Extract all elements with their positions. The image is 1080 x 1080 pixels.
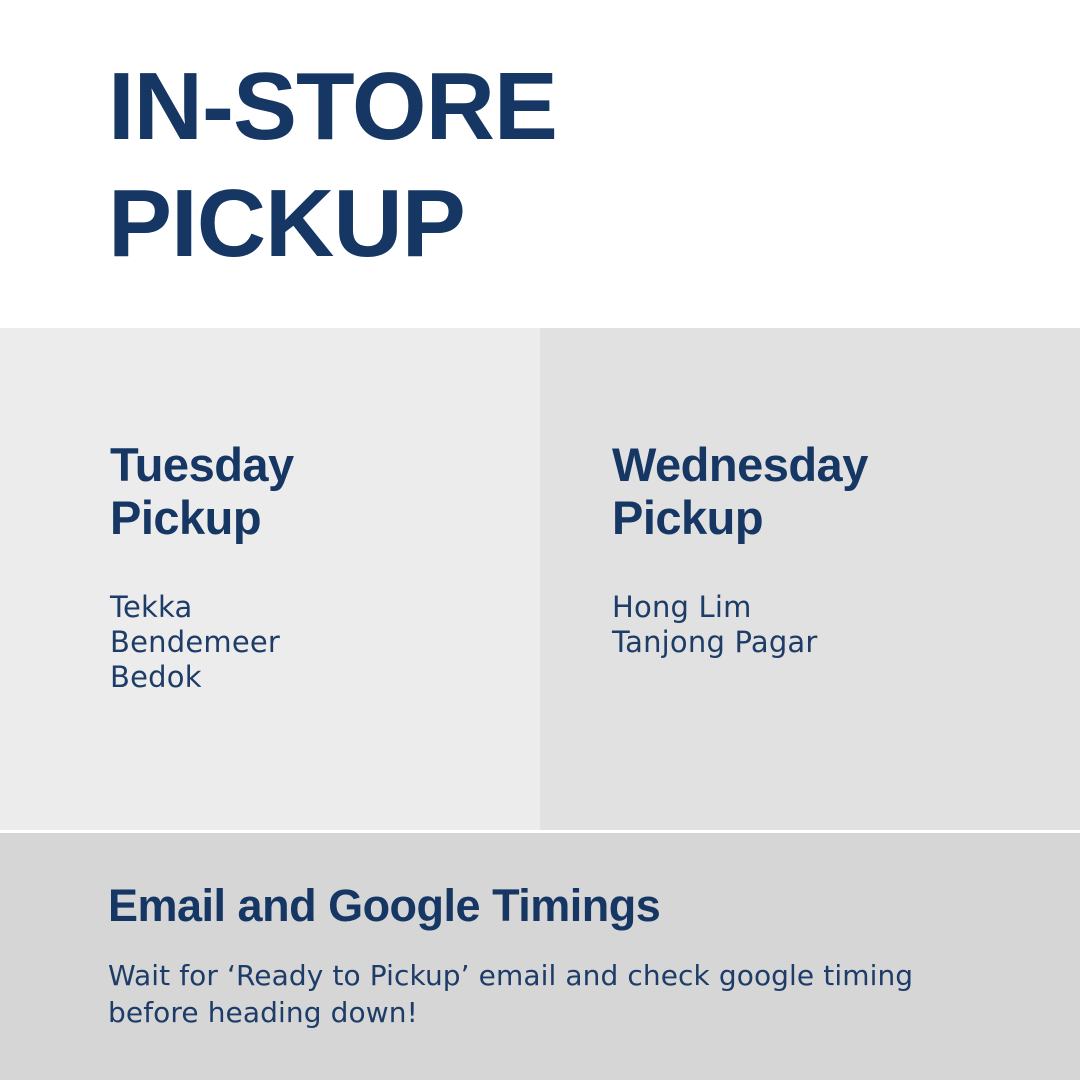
footer-instructions: Wait for ‘Ready to Pickup’ email and che… bbox=[108, 957, 998, 1031]
page-title: IN-STORE PICKUP bbox=[108, 48, 828, 282]
pickup-panel-tuesday: Tuesday Pickup Tekka Bendemeer Bedok bbox=[0, 328, 540, 830]
pickup-location-list-tuesday: Tekka Bendemeer Bedok bbox=[110, 590, 530, 695]
list-item: Bedok bbox=[110, 660, 530, 695]
footer-content: Email and Google Timings Wait for ‘Ready… bbox=[108, 881, 998, 1031]
footer-band: Email and Google Timings Wait for ‘Ready… bbox=[0, 833, 1080, 1080]
pickup-panel-wednesday: Wednesday Pickup Hong Lim Tanjong Pagar bbox=[540, 328, 1080, 830]
pickup-panel-wednesday-content: Wednesday Pickup Hong Lim Tanjong Pagar bbox=[612, 438, 1072, 660]
header-band: IN-STORE PICKUP bbox=[0, 0, 1080, 328]
pickup-location-list-wednesday: Hong Lim Tanjong Pagar bbox=[612, 590, 1072, 660]
list-item: Bendemeer bbox=[110, 625, 530, 660]
footer-title: Email and Google Timings bbox=[108, 881, 998, 931]
in-store-pickup-poster: IN-STORE PICKUP Tuesday Pickup Tekka Ben… bbox=[0, 0, 1080, 1080]
pickup-panel-tuesday-content: Tuesday Pickup Tekka Bendemeer Bedok bbox=[110, 438, 530, 695]
pickup-panel-wednesday-title: Wednesday Pickup bbox=[612, 438, 1072, 544]
list-item: Hong Lim bbox=[612, 590, 1072, 625]
pickup-panel-tuesday-title: Tuesday Pickup bbox=[110, 438, 530, 544]
list-item: Tekka bbox=[110, 590, 530, 625]
pickup-days-section: Tuesday Pickup Tekka Bendemeer Bedok Wed… bbox=[0, 328, 1080, 830]
list-item: Tanjong Pagar bbox=[612, 625, 1072, 660]
